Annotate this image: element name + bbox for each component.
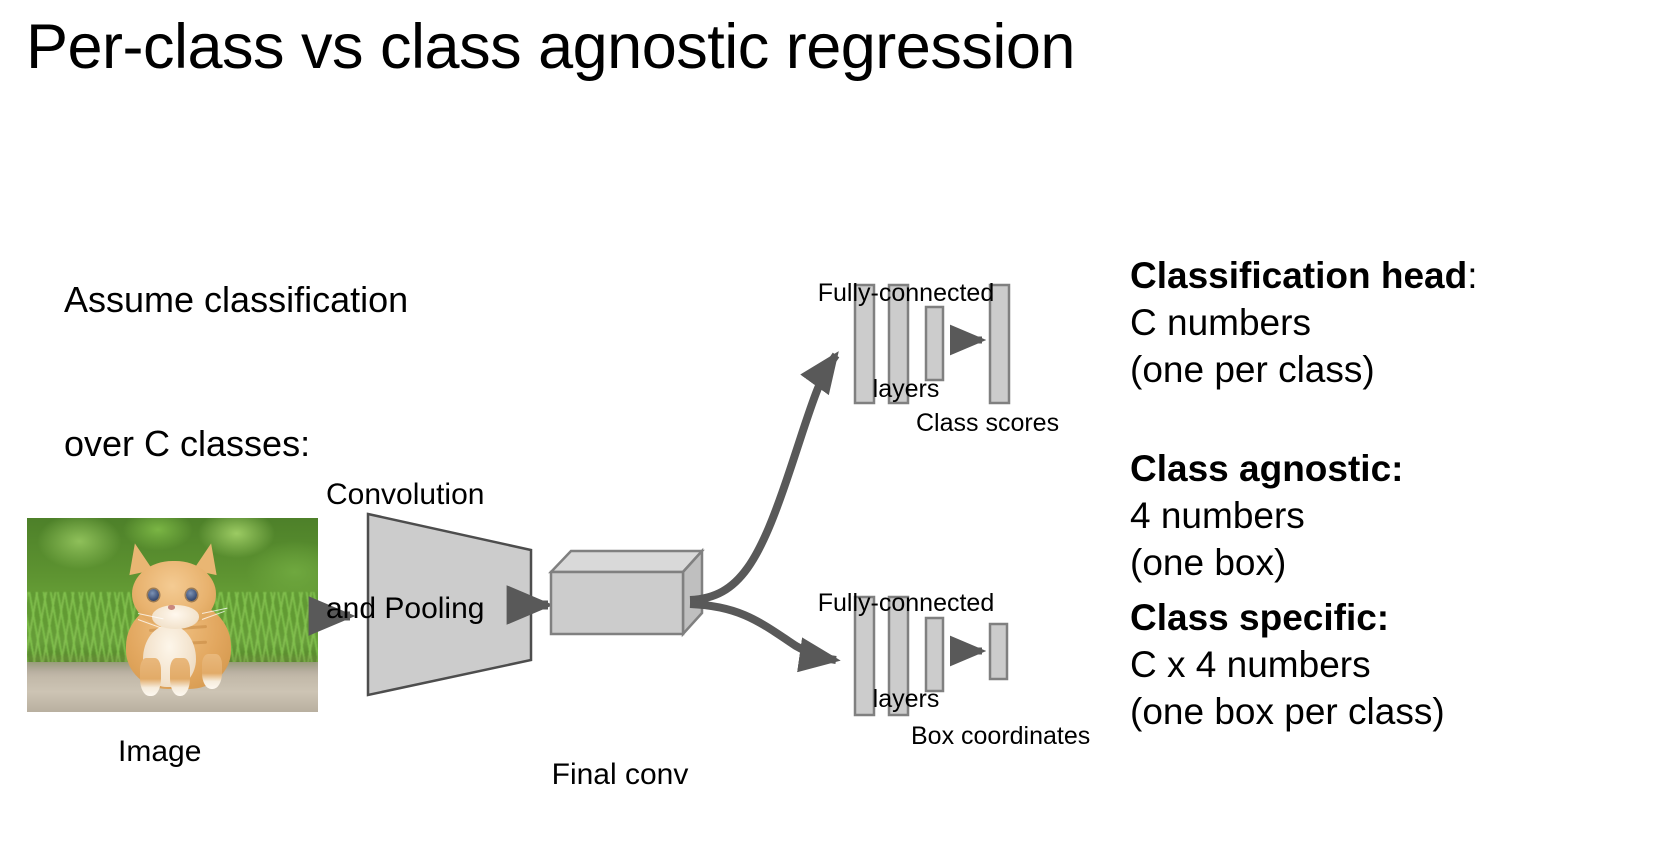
box-coordinates-label: Box coordinates xyxy=(911,720,1090,752)
annotation-class-agnostic: Class agnostic: 4 numbers (one box) xyxy=(1130,445,1670,586)
annotation-classification-head: Classification head: C numbers (one per … xyxy=(1130,252,1670,393)
fc-layers-label-classification-line1: Fully-connected xyxy=(806,277,1006,309)
annotation-class-specific: Class specific: C x 4 numbers (one box p… xyxy=(1130,594,1670,735)
slide-canvas: Per-class vs class agnostic regression A… xyxy=(0,0,1678,846)
annotation-heading: Class agnostic: xyxy=(1130,445,1670,492)
annotation-line1: C x 4 numbers xyxy=(1130,641,1670,688)
kitten-leg xyxy=(202,654,222,689)
feature-map-front-face xyxy=(551,572,683,634)
fc-layers-label-box-line1: Fully-connected xyxy=(806,587,1006,619)
image-label: Image xyxy=(118,733,201,771)
annotation-heading: Class specific: xyxy=(1130,594,1670,641)
feature-map-label: Final conv feature map xyxy=(530,680,710,846)
conv-pooling-label-line2: and Pooling xyxy=(326,590,484,628)
feature-map-side-face xyxy=(683,551,702,634)
annotation-heading-text: Class specific: xyxy=(1130,597,1389,638)
annotation-spacer xyxy=(1130,586,1670,594)
annotation-line2: (one per class) xyxy=(1130,346,1670,393)
feature-map-label-line1: Final conv xyxy=(530,756,710,794)
assume-note-line1: Assume classification xyxy=(64,276,408,324)
kitten-leg xyxy=(140,658,160,697)
kitten-eye-left xyxy=(148,589,159,601)
feature-map-top-face xyxy=(551,551,702,572)
annotation-line1: 4 numbers xyxy=(1130,492,1670,539)
annotations-column: Classification head: C numbers (one per … xyxy=(1130,252,1670,735)
kitten-eye-right xyxy=(186,589,197,601)
conv-pooling-label-line1: Convolution xyxy=(326,476,484,514)
class-scores-label: Class scores xyxy=(916,407,1059,439)
input-image-kitten-photo xyxy=(27,518,318,712)
fc-layers-label-box-line2: layers xyxy=(806,683,1006,715)
annotation-heading-text: Classification head xyxy=(1130,255,1467,296)
annotation-line2: (one box) xyxy=(1130,539,1670,586)
page-title: Per-class vs class agnostic regression xyxy=(26,14,1075,80)
fc-layers-label-classification-line2: layers xyxy=(806,373,1006,405)
annotation-spacer xyxy=(1130,393,1670,445)
kitten-leg xyxy=(170,658,190,697)
annotation-heading-text: Class agnostic: xyxy=(1130,448,1403,489)
annotation-line2: (one box per class) xyxy=(1130,688,1670,735)
annotation-heading: Classification head: xyxy=(1130,252,1670,299)
annotation-heading-colon: : xyxy=(1467,255,1477,296)
conv-pooling-label: Convolution and Pooling xyxy=(326,400,484,704)
annotation-line1: C numbers xyxy=(1130,299,1670,346)
